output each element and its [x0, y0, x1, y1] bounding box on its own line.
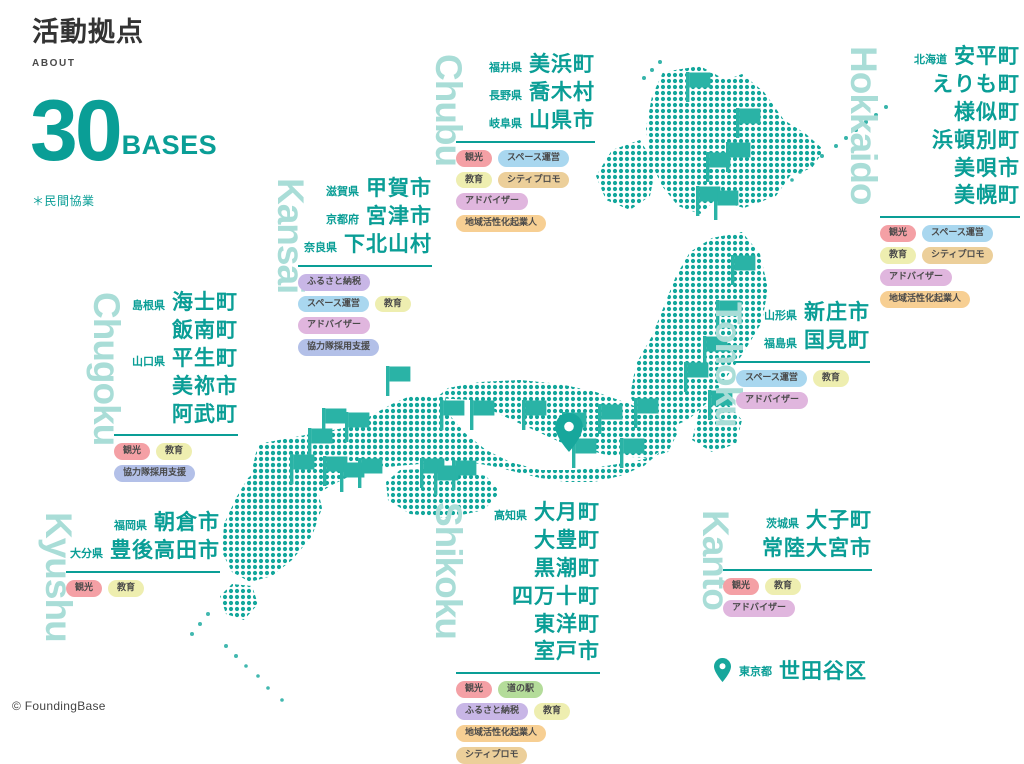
base-row: 山形県新庄市 — [736, 300, 870, 327]
tokyo-pref: 東京都 — [739, 667, 772, 678]
region-divider — [456, 672, 600, 674]
prefecture-label: 福井県 — [489, 63, 522, 74]
tag-list: スペース運営教育アドバイザー — [736, 370, 870, 409]
base-row: －－－黒潮町 — [456, 556, 600, 583]
tag-badge[interactable]: シティプロモ — [456, 747, 527, 764]
region-divider — [723, 569, 872, 571]
base-row: 福井県美浜町 — [456, 52, 595, 79]
tag-list: 観光教育 — [66, 580, 220, 597]
tag-badge[interactable]: アドバイザー — [880, 269, 952, 286]
tag-badge[interactable]: 道の駅 — [498, 681, 543, 698]
city-label: 美祢市 — [172, 374, 238, 401]
prefecture-label: 島根県 — [132, 301, 165, 312]
region-body-kansai: 滋賀県甲賀市京都府宮津市奈良県下北山村ふるさと納税スペース運営教育アドバイザー協… — [298, 176, 432, 356]
tag-list: 観光スペース運営教育シティプロモアドバイザー地域活性化起業人 — [456, 150, 595, 233]
tag-list: ふるさと納税スペース運営教育アドバイザー協力隊採用支援 — [298, 274, 432, 357]
map-region-chugoku — [252, 396, 452, 472]
tag-badge[interactable]: 地域活性化起業人 — [456, 215, 546, 232]
base-row: 福島県国見町 — [736, 328, 870, 355]
tag-badge[interactable]: 教育 — [375, 296, 411, 313]
city-label: 様似町 — [954, 100, 1020, 127]
map-region-chubu-kansai — [246, 380, 678, 512]
map-pin-icon — [714, 658, 731, 687]
tag-badge[interactable]: 教育 — [813, 370, 849, 387]
base-row: 京都府宮津市 — [298, 204, 432, 231]
city-label: 東洋町 — [534, 612, 600, 639]
map-region-hokkaido — [596, 66, 824, 214]
tag-badge[interactable]: 地域活性化起業人 — [456, 725, 546, 742]
region-body-hokkaido: 北海道安平町－－－えりも町－－－様似町－－－浜頓別町－－－美唄市－－－美幌町観光… — [880, 44, 1020, 308]
city-label: 黒潮町 — [534, 556, 600, 583]
tag-badge[interactable]: 地域活性化起業人 — [880, 291, 970, 308]
region-body-kanto: 茨城県大子町－－－常陸大宮市観光教育アドバイザー — [723, 508, 872, 617]
city-label: 平生町 — [172, 346, 238, 373]
region-body-chubu: 福井県美浜町長野県喬木村岐阜県山県市観光スペース運営教育シティプロモアドバイザー… — [456, 52, 595, 232]
region-body-kyushu: 福岡県朝倉市大分県豊後高田市観光教育 — [66, 510, 220, 597]
tag-badge[interactable]: スペース運営 — [922, 225, 993, 242]
city-label: 海士町 — [172, 290, 238, 317]
base-row: －－－美祢市 — [114, 374, 238, 401]
tag-list: 観光教育協力隊採用支援 — [114, 443, 238, 482]
city-label: 山県市 — [529, 108, 595, 135]
base-row: 山口県平生町 — [114, 346, 238, 373]
city-label: 室戸市 — [534, 639, 600, 666]
tokyo-city: 世田谷区 — [779, 659, 867, 686]
base-row: 北海道安平町 — [880, 44, 1020, 71]
base-row: 大分県豊後高田市 — [66, 538, 220, 565]
city-label: 美浜町 — [529, 52, 595, 79]
footer-copyright: © FoundingBase — [12, 699, 106, 713]
region-divider — [736, 361, 870, 363]
base-row: 滋賀県甲賀市 — [298, 176, 432, 203]
tokyo-base-row: 東京都 世田谷区 — [714, 658, 867, 687]
city-label: 安平町 — [954, 44, 1020, 71]
tag-badge[interactable]: 観光 — [880, 225, 916, 242]
base-row: －－－浜頓別町 — [880, 128, 1020, 155]
map-pin-marker — [555, 413, 583, 452]
tag-badge[interactable]: 協力隊採用支援 — [114, 465, 195, 482]
prefecture-label: 大分県 — [70, 549, 103, 560]
header: 活動拠点 ABOUT — [32, 18, 144, 69]
tag-list: 観光教育アドバイザー — [723, 578, 872, 617]
base-row: 福岡県朝倉市 — [66, 510, 220, 537]
tag-list: 観光スペース運営教育シティプロモアドバイザー地域活性化起業人 — [880, 225, 1020, 308]
tag-badge[interactable]: シティプロモ — [922, 247, 993, 264]
base-row: 岐阜県山県市 — [456, 108, 595, 135]
prefecture-label: 北海道 — [914, 55, 947, 66]
region-body-shikoku: 高知県大月町－－－大豊町－－－黒潮町－－－四万十町－－－東洋町－－－室戸市観光道… — [456, 500, 600, 764]
prefecture-label: 長野県 — [489, 91, 522, 102]
prefecture-label: 岐阜県 — [489, 119, 522, 130]
tag-badge[interactable]: スペース運営 — [498, 150, 569, 167]
tag-badge[interactable]: アドバイザー — [456, 193, 528, 210]
region-divider — [456, 141, 595, 143]
base-row: －－－室戸市 — [456, 639, 600, 666]
base-row: －－－美唄市 — [880, 156, 1020, 183]
region-divider — [66, 571, 220, 573]
city-label: 新庄市 — [804, 300, 870, 327]
tag-badge[interactable]: 協力隊採用支援 — [298, 339, 379, 356]
stat-block: 30 BASES — [30, 96, 217, 167]
stat-unit: BASES — [122, 130, 218, 161]
tag-badge[interactable]: ふるさと納税 — [298, 274, 370, 291]
prefecture-label: 高知県 — [494, 511, 527, 522]
tag-list: 観光道の駅ふるさと納税教育地域活性化起業人シティプロモ — [456, 681, 600, 764]
city-label: 宮津市 — [366, 204, 432, 231]
city-label: 常陸大宮市 — [762, 536, 872, 563]
region-body-chugoku: 島根県海士町－－－飯南町山口県平生町－－－美祢市－－－阿武町観光教育協力隊採用支… — [114, 290, 238, 482]
region-body-tohoku: 山形県新庄市福島県国見町スペース運営教育アドバイザー — [736, 300, 870, 409]
city-label: 国見町 — [804, 328, 870, 355]
tag-badge[interactable]: アドバイザー — [723, 600, 795, 617]
tag-badge[interactable]: 観光 — [114, 443, 150, 460]
base-row: －－－大豊町 — [456, 528, 600, 555]
base-row: －－－常陸大宮市 — [723, 536, 872, 563]
city-label: 喬木村 — [529, 80, 595, 107]
prefecture-label: 京都府 — [326, 215, 359, 226]
tag-badge[interactable]: 教育 — [156, 443, 192, 460]
city-label: 朝倉市 — [154, 510, 220, 537]
tag-badge[interactable]: 教育 — [108, 580, 144, 597]
tag-badge[interactable]: 教育 — [534, 703, 570, 720]
base-row: 島根県海士町 — [114, 290, 238, 317]
page-subtitle: ABOUT — [32, 58, 144, 69]
prefecture-label: 福岡県 — [114, 521, 147, 532]
city-label: 大豊町 — [534, 528, 600, 555]
base-row: 長野県喬木村 — [456, 80, 595, 107]
base-row: 茨城県大子町 — [723, 508, 872, 535]
tag-badge[interactable]: 観光 — [66, 580, 102, 597]
region-divider — [298, 265, 432, 267]
tag-badge[interactable]: 観光 — [723, 578, 759, 595]
tag-badge[interactable]: シティプロモ — [498, 172, 569, 189]
city-label: 豊後高田市 — [110, 538, 220, 565]
tag-badge[interactable]: 観光 — [456, 150, 492, 167]
tag-badge[interactable]: スペース運営 — [298, 296, 369, 313]
map-region-kyushu — [220, 464, 322, 620]
city-label: 飯南町 — [172, 318, 238, 345]
base-row: －－－東洋町 — [456, 612, 600, 639]
base-row: －－－四万十町 — [456, 584, 600, 611]
city-label: 美幌町 — [954, 183, 1020, 210]
city-label: 大子町 — [806, 508, 872, 535]
base-row: －－－飯南町 — [114, 318, 238, 345]
prefecture-label: 福島県 — [764, 339, 797, 350]
base-row: －－－阿武町 — [114, 402, 238, 429]
tag-badge[interactable]: アドバイザー — [298, 317, 370, 334]
stat-note: ＊民間協業 — [32, 192, 95, 209]
prefecture-label: 奈良県 — [304, 243, 337, 254]
city-label: 美唄市 — [954, 156, 1020, 183]
tag-badge[interactable]: 教育 — [880, 247, 916, 264]
tag-badge[interactable]: 教育 — [456, 172, 492, 189]
tag-badge[interactable]: 観光 — [456, 681, 492, 698]
base-row: 高知県大月町 — [456, 500, 600, 527]
prefecture-label: 茨城県 — [766, 519, 799, 530]
city-label: 甲賀市 — [366, 176, 432, 203]
region-divider — [114, 434, 238, 436]
prefecture-label: 山形県 — [764, 311, 797, 322]
tag-badge[interactable]: スペース運営 — [736, 370, 807, 387]
page-title: 活動拠点 — [32, 18, 144, 48]
city-label: 四万十町 — [512, 584, 600, 611]
city-label: えりも町 — [932, 72, 1020, 99]
base-row: 奈良県下北山村 — [298, 232, 432, 259]
stat-number: 30 — [30, 96, 120, 167]
city-label: 浜頓別町 — [932, 128, 1020, 155]
city-label: 阿武町 — [172, 402, 238, 429]
base-row: －－－美幌町 — [880, 183, 1020, 210]
prefecture-label: 滋賀県 — [326, 187, 359, 198]
region-watermark-hokkaido: Hokkaido — [845, 46, 882, 205]
tag-badge[interactable]: ふるさと納税 — [456, 703, 528, 720]
city-label: 下北山村 — [344, 232, 432, 259]
city-label: 大月町 — [534, 500, 600, 527]
tag-badge[interactable]: アドバイザー — [736, 392, 808, 409]
base-row: －－－様似町 — [880, 100, 1020, 127]
region-divider — [880, 216, 1020, 218]
tag-badge[interactable]: 教育 — [765, 578, 801, 595]
base-row: －－－えりも町 — [880, 72, 1020, 99]
prefecture-label: 山口県 — [132, 357, 165, 368]
